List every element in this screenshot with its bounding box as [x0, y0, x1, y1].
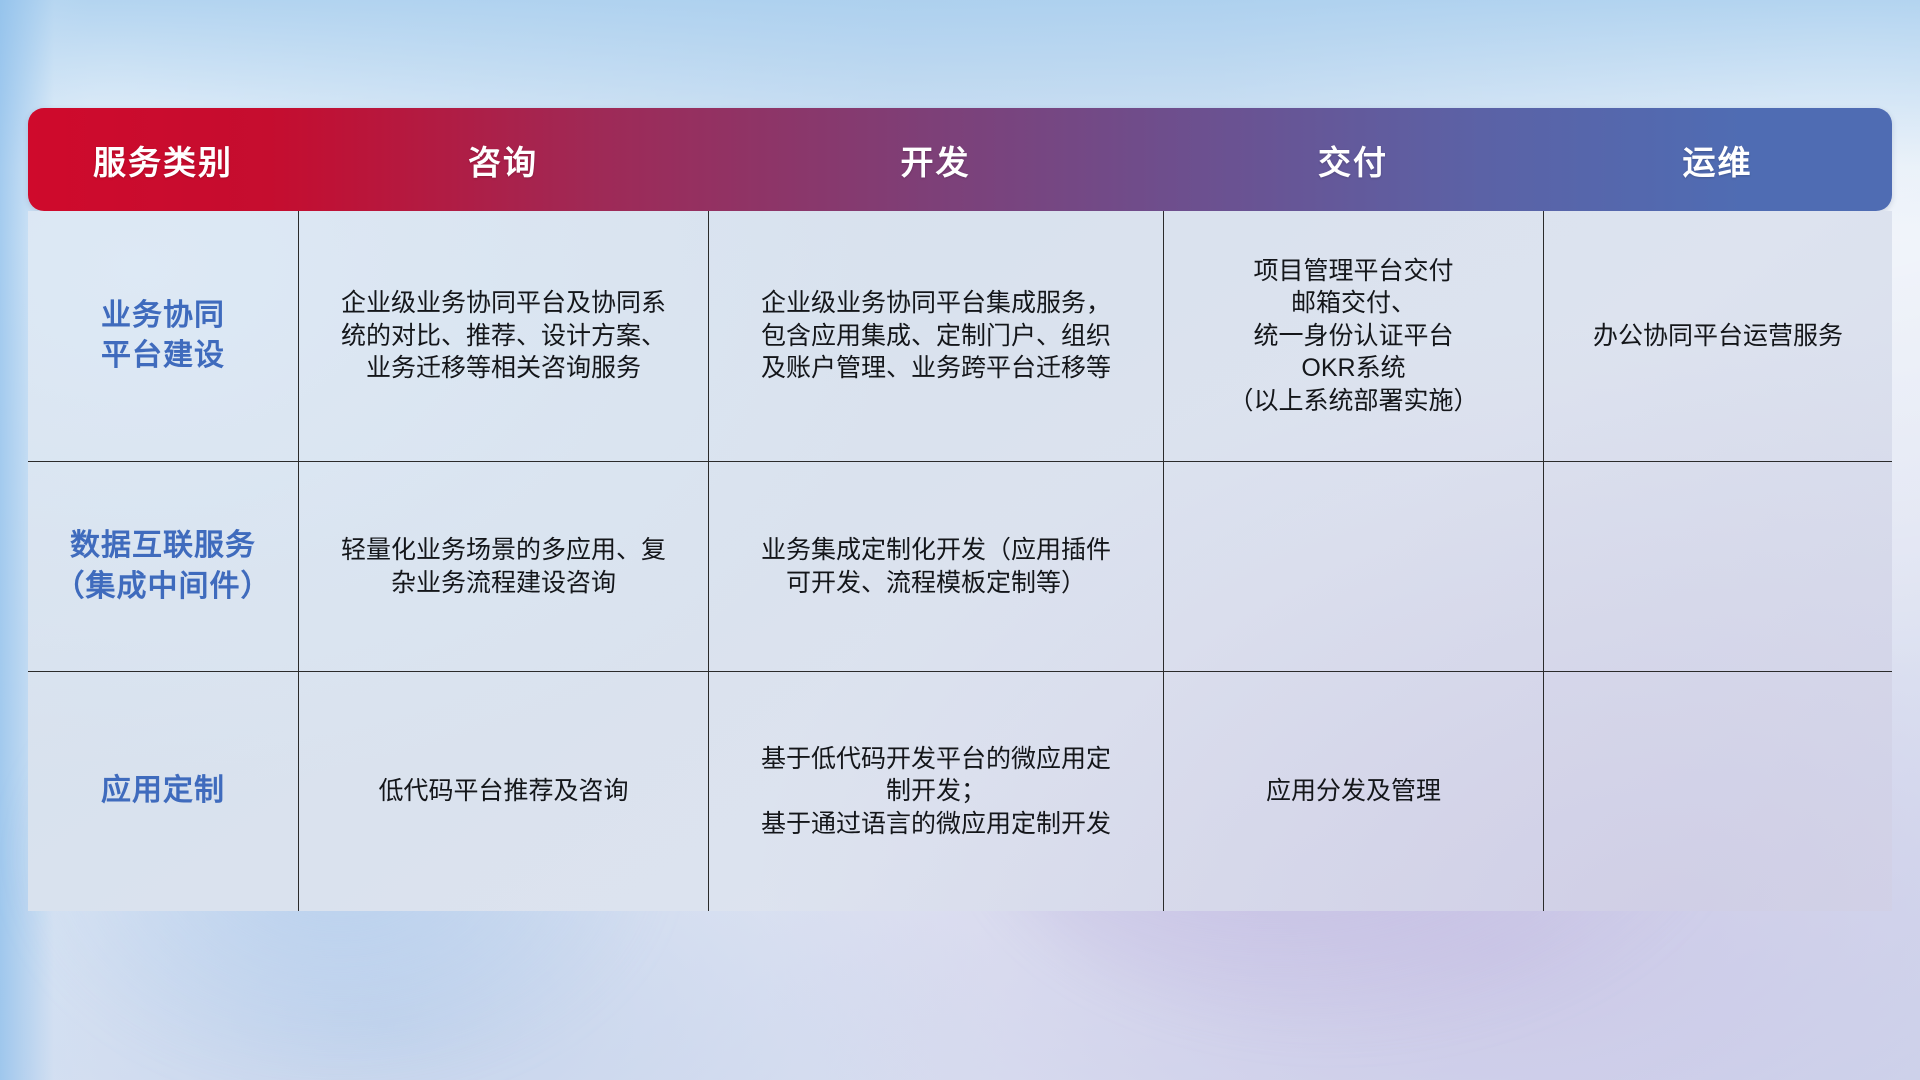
- cell-delivery: 应用分发及管理: [1163, 672, 1543, 911]
- column-header-operations: 运维: [1543, 108, 1892, 211]
- column-header-development: 开发: [708, 108, 1163, 211]
- table-row: 应用定制 低代码平台推荐及咨询 基于低代码开发平台的微应用定 制开发； 基于通过…: [28, 671, 1892, 911]
- row-label-application-customization: 应用定制: [28, 672, 298, 911]
- column-header-category: 服务类别: [28, 108, 298, 211]
- table-row: 数据互联服务 （集成中间件） 轻量化业务场景的多应用、复 杂业务流程建设咨询 业…: [28, 461, 1892, 671]
- cell-operations: [1543, 672, 1892, 911]
- column-header-consulting: 咨询: [298, 108, 708, 211]
- table-header-row: 服务类别 咨询 开发 交付 运维: [28, 108, 1892, 211]
- cell-development: 业务集成定制化开发（应用插件 可开发、流程模板定制等）: [708, 462, 1163, 671]
- cell-development: 基于低代码开发平台的微应用定 制开发； 基于通过语言的微应用定制开发: [708, 672, 1163, 911]
- row-label-data-interconnection-service: 数据互联服务 （集成中间件）: [28, 462, 298, 671]
- table-row: 业务协同 平台建设 企业级业务协同平台及协同系 统的对比、推荐、设计方案、 业务…: [28, 211, 1892, 461]
- cell-operations: 办公协同平台运营服务: [1543, 211, 1892, 461]
- cell-consulting: 企业级业务协同平台及协同系 统的对比、推荐、设计方案、 业务迁移等相关咨询服务: [298, 211, 708, 461]
- cell-consulting: 轻量化业务场景的多应用、复 杂业务流程建设咨询: [298, 462, 708, 671]
- cell-consulting: 低代码平台推荐及咨询: [298, 672, 708, 911]
- cell-delivery: 项目管理平台交付 邮箱交付、 统一身份认证平台 OKR系统 （以上系统部署实施）: [1163, 211, 1543, 461]
- cell-development: 企业级业务协同平台集成服务， 包含应用集成、定制门户、组织 及账户管理、业务跨平…: [708, 211, 1163, 461]
- row-label-business-collaboration-platform: 业务协同 平台建设: [28, 211, 298, 461]
- service-category-table: 服务类别 咨询 开发 交付 运维 业务协同 平台建设 企业级业务协同平台及协同系…: [28, 108, 1892, 911]
- cell-delivery: [1163, 462, 1543, 671]
- column-header-delivery: 交付: [1163, 108, 1543, 211]
- cell-operations: [1543, 462, 1892, 671]
- table-body: 业务协同 平台建设 企业级业务协同平台及协同系 统的对比、推荐、设计方案、 业务…: [28, 211, 1892, 911]
